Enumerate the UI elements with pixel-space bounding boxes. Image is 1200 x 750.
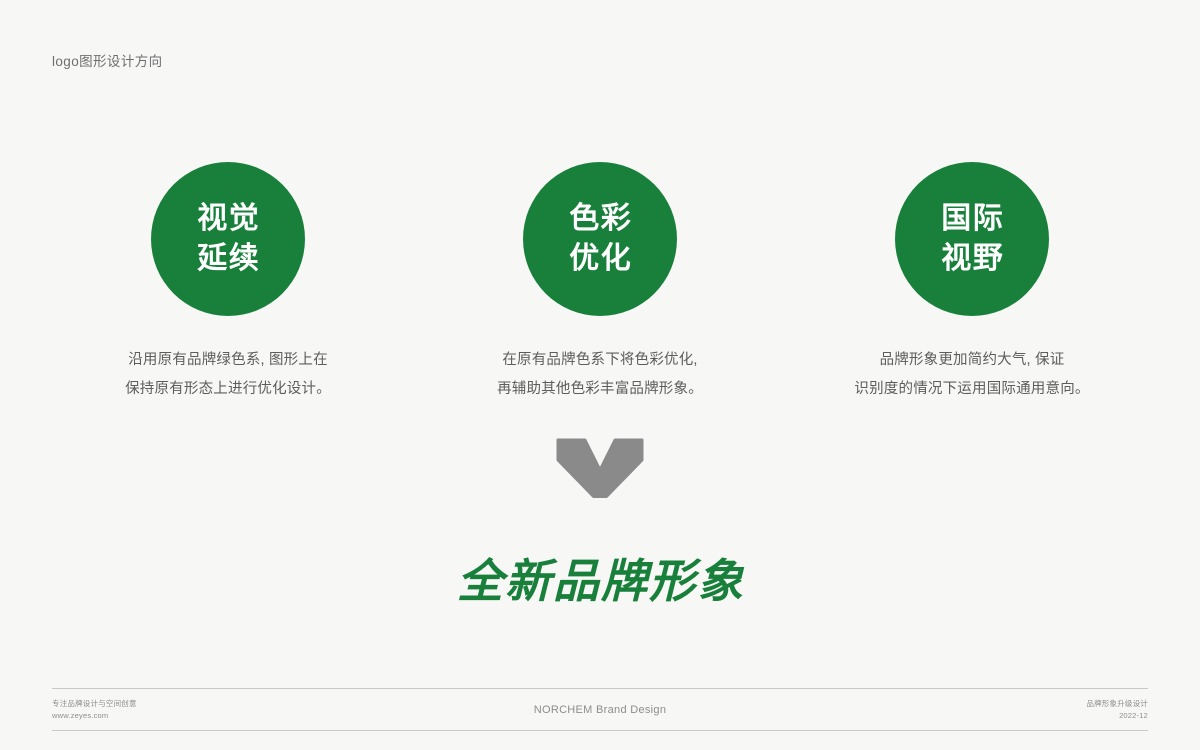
pillar-group: 视觉 延续 沿用原有品牌绿色系, 图形上在 保持原有形态上进行优化设计。 色彩 …: [52, 162, 1148, 404]
arrow-container: [0, 438, 1200, 498]
pillar-caption: 在原有品牌色系下将色彩优化, 再辅助其他色彩丰富品牌形象。: [497, 346, 703, 404]
footer-project-subtitle: 品牌形象升级设计: [1086, 698, 1148, 710]
pillar-circle-line1: 视觉: [196, 199, 261, 239]
slide-footer: 专注品牌设计与空间创意 www.zeyes.com NORCHEM Brand …: [52, 688, 1148, 731]
pillar-circle-color-optimization: 色彩 优化: [523, 162, 677, 316]
headline-new-brand-image: 全新品牌形象: [0, 545, 1200, 611]
pillar-caption-line2: 识别度的情况下运用国际通用意向。: [854, 375, 1089, 404]
pillar-caption-line2: 再辅助其他色彩丰富品牌形象。: [497, 375, 703, 404]
footer-project-meta: 品牌形象升级设计 2022-12: [1086, 698, 1148, 721]
pillar-caption-line1: 品牌形象更加简约大气, 保证: [854, 346, 1089, 375]
pillar-item: 国际 视野 品牌形象更加简约大气, 保证 识别度的情况下运用国际通用意向。: [796, 162, 1148, 404]
pillar-item: 色彩 优化 在原有品牌色系下将色彩优化, 再辅助其他色彩丰富品牌形象。: [424, 162, 776, 404]
pillar-circle-line1: 国际: [940, 199, 1005, 239]
footer-project-date: 2022-12: [1086, 710, 1148, 722]
pillar-caption-line1: 在原有品牌色系下将色彩优化,: [497, 346, 703, 375]
page-title: logo图形设计方向: [52, 50, 163, 70]
pillar-caption-line2: 保持原有形态上进行优化设计。: [125, 375, 331, 404]
presentation-slide: logo图形设计方向 视觉 延续 沿用原有品牌绿色系, 图形上在 保持原有形态上…: [0, 0, 1200, 750]
pillar-caption: 沿用原有品牌绿色系, 图形上在 保持原有形态上进行优化设计。: [125, 346, 331, 404]
pillar-circle-line2: 延续: [196, 239, 261, 279]
chevron-down-icon: [555, 438, 645, 498]
pillar-circle-line1: 色彩: [568, 199, 633, 239]
pillar-item: 视觉 延续 沿用原有品牌绿色系, 图形上在 保持原有形态上进行优化设计。: [52, 162, 404, 404]
pillar-caption-line1: 沿用原有品牌绿色系, 图形上在: [125, 346, 331, 375]
pillar-caption: 品牌形象更加简约大气, 保证 识别度的情况下运用国际通用意向。: [854, 346, 1089, 404]
pillar-circle-line2: 优化: [568, 239, 633, 279]
pillar-circle-line2: 视野: [940, 239, 1005, 279]
footer-project-name: NORCHEM Brand Design: [52, 704, 1148, 716]
pillar-circle-visual-continuity: 视觉 延续: [151, 162, 305, 316]
pillar-circle-international-vision: 国际 视野: [895, 162, 1049, 316]
